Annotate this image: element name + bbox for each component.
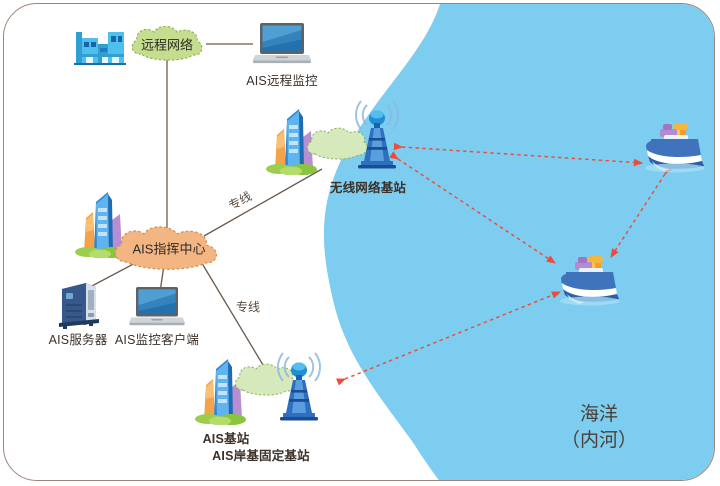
- wireless-network-base-station: [349, 99, 405, 176]
- ship-icon: [638, 117, 710, 175]
- ais-shore-fixed-base-station: [271, 351, 327, 428]
- ais-network-diagram: 远程网络 AIS远程监控: [0, 0, 720, 486]
- ais-remote-monitor-label: AIS远程监控: [246, 70, 318, 89]
- ship-north-to-ship-south: [611, 174, 665, 257]
- office-building-icon: [74, 24, 126, 66]
- ship-north: [638, 117, 710, 180]
- laptop-icon: [253, 22, 311, 66]
- ais-remote-monitor: [253, 22, 311, 71]
- antenna-tower-icon: [349, 99, 405, 171]
- sea-label-line1: 海洋: [561, 402, 637, 428]
- link-label-dedicated-line-shore: 专线: [236, 298, 260, 315]
- wireless-base-to-ship-south: [398, 159, 555, 263]
- wireless-network-base-station-label: 无线网络基站: [330, 177, 406, 196]
- ship-icon: [553, 250, 625, 308]
- remote-office-building: [74, 24, 126, 71]
- laptop-icon: [128, 286, 186, 328]
- diagram-frame: 远程网络 AIS远程监控: [3, 3, 715, 481]
- shore-base-to-ship-south: [345, 292, 560, 379]
- sea-label-line2: （内河）: [561, 428, 637, 454]
- cloud-shape-icon: [109, 226, 229, 272]
- ais-shore-fixed-base-station-label: AIS岸基固定基站: [212, 445, 310, 464]
- ais-command-center-cloud: AIS指挥中心: [109, 226, 229, 277]
- ais-server: [56, 281, 102, 334]
- wireless-base-to-ship-north: [402, 147, 642, 163]
- server-tower-icon: [56, 281, 102, 329]
- ship-south: [553, 250, 625, 313]
- ais-server-label: AIS服务器: [49, 329, 108, 348]
- antenna-tower-icon: [271, 351, 327, 423]
- ais-monitor-client: [128, 286, 186, 333]
- remote-network-cloud: 远程网络: [127, 24, 207, 69]
- sea-label: 海洋 （内河）: [561, 402, 637, 453]
- cloud-shape-icon: [127, 24, 207, 64]
- ais-monitor-client-label: AIS监控客户端: [115, 329, 199, 348]
